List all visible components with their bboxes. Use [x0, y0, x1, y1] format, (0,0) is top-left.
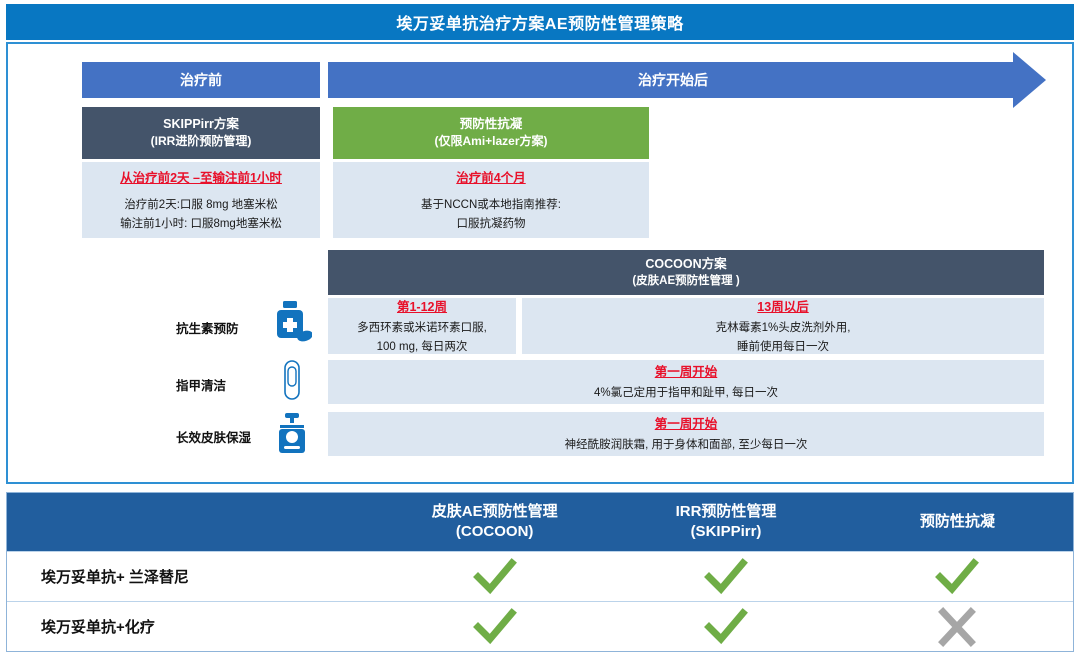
cross-icon — [934, 607, 980, 647]
nail-detail-1: 4%氯己定用于指甲和趾甲, 每日一次 — [594, 384, 778, 402]
column-skippirr-line2: (SKIPPirr) — [691, 522, 762, 542]
check-icon — [472, 557, 518, 597]
cocoon-subtitle: (皮肤AE预防性管理 ) — [632, 273, 739, 290]
table-cell-r1-c0 — [379, 602, 610, 651]
anticoagulation-detail-2: 口服抗凝药物 — [457, 215, 526, 233]
skippirr-detail-2: 输注前1小时: 口服8mg地塞米松 — [120, 215, 282, 233]
row-label-antibiotic: 抗生素预防 — [176, 318, 268, 337]
table-row: 埃万妥单抗+ 兰泽替尼 — [7, 551, 1073, 601]
check-icon — [934, 557, 980, 597]
antibiotic-right-detail-2: 睡前使用每日一次 — [737, 338, 829, 356]
lotion-bottle-icon — [272, 412, 312, 461]
right-arrow-icon — [1013, 52, 1046, 108]
table-column-skippirr: IRR预防性管理 (SKIPPirr) — [610, 493, 841, 551]
pill-bottle-icon — [272, 298, 312, 359]
antibiotic-left-detail-1: 多西环素或米诺环素口服, — [357, 319, 487, 337]
table-corner-cell — [7, 493, 379, 551]
table-cell-r0-c1 — [610, 552, 841, 601]
column-cocoon-line2: (COCOON) — [456, 522, 534, 542]
skippirr-subtitle: (IRR进阶预防管理) — [151, 133, 252, 150]
antibiotic-left-timing: 第1-12周 — [397, 296, 447, 315]
page-title-bar: 埃万妥单抗治疗方案AE预防性管理策略 — [6, 4, 1074, 40]
row-label-moisturizer: 长效皮肤保湿 — [176, 427, 268, 446]
skippirr-title: SKIPPirr方案 — [163, 115, 239, 133]
moisturizer-timing: 第一周开始 — [655, 413, 718, 432]
timeline-pre-label: 治疗前 — [180, 70, 222, 90]
check-icon — [703, 557, 749, 597]
moisturizer-cell: 第一周开始 神经酰胺润肤霜, 用于身体和面部, 至少每日一次 — [328, 412, 1044, 456]
table-row-label-chemotherapy: 埃万妥单抗+化疗 — [7, 602, 379, 651]
table-cell-r1-c1 — [610, 602, 841, 651]
moisturizer-detail-1: 神经酰胺润肤霜, 用于身体和面部, 至少每日一次 — [565, 436, 808, 454]
anticoagulation-title: 预防性抗凝 — [460, 115, 523, 133]
comparison-table: 皮肤AE预防性管理 (COCOON) IRR预防性管理 (SKIPPirr) 预… — [6, 492, 1074, 652]
anticoagulation-body: 治疗前4个月 基于NCCN或本地指南推荐: 口服抗凝药物 — [333, 162, 649, 238]
cocoon-header: COCOON方案 (皮肤AE预防性管理 ) — [328, 250, 1044, 295]
skippirr-timing: 从治疗前2天 –至输注前1小时 — [120, 167, 282, 186]
column-cocoon-line1: 皮肤AE预防性管理 — [432, 502, 558, 522]
nail-cell: 第一周开始 4%氯己定用于指甲和趾甲, 每日一次 — [328, 360, 1044, 404]
table-row: 埃万妥单抗+化疗 — [7, 601, 1073, 651]
skippirr-detail-1: 治疗前2天:口服 8mg 地塞米松 — [124, 196, 277, 214]
anticoagulation-subtitle: (仅限Ami+lazer方案) — [434, 133, 547, 150]
fingernail-icon — [272, 360, 312, 409]
table-row-label-lazertinib: 埃万妥单抗+ 兰泽替尼 — [7, 552, 379, 601]
column-anticoagulation-line1: 预防性抗凝 — [920, 512, 995, 532]
page-title: 埃万妥单抗治疗方案AE预防性管理策略 — [396, 10, 683, 34]
row-label-nail: 指甲清洁 — [176, 375, 268, 394]
table-cell-r0-c0 — [379, 552, 610, 601]
column-skippirr-line1: IRR预防性管理 — [676, 502, 777, 522]
skippirr-body: 从治疗前2天 –至输注前1小时 治疗前2天:口服 8mg 地塞米松 输注前1小时… — [82, 162, 320, 238]
table-cell-r1-c2 — [842, 602, 1073, 651]
cocoon-title: COCOON方案 — [645, 255, 726, 273]
antibiotic-cell-weeks-1-12: 第1-12周 多西环素或米诺环素口服, 100 mg, 每日两次 — [328, 298, 516, 354]
check-icon — [472, 607, 518, 647]
timeline-segment-post: 治疗开始后 — [328, 62, 1018, 98]
antibiotic-right-timing: 13周以后 — [757, 296, 808, 315]
antibiotic-cell-week-13-plus: 13周以后 克林霉素1%头皮洗剂外用, 睡前使用每日一次 — [522, 298, 1044, 354]
timeline-post-label: 治疗开始后 — [638, 70, 708, 90]
infographic-root: 埃万妥单抗治疗方案AE预防性管理策略 治疗前 治疗开始后 SKIPPirr方案 … — [0, 0, 1080, 656]
anticoagulation-timing: 治疗前4个月 — [456, 167, 525, 186]
nail-timing: 第一周开始 — [655, 361, 718, 380]
table-header-row: 皮肤AE预防性管理 (COCOON) IRR预防性管理 (SKIPPirr) 预… — [7, 493, 1073, 551]
table-column-cocoon: 皮肤AE预防性管理 (COCOON) — [379, 493, 610, 551]
anticoagulation-detail-1: 基于NCCN或本地指南推荐: — [421, 196, 561, 214]
skippirr-header: SKIPPirr方案 (IRR进阶预防管理) — [82, 107, 320, 159]
table-column-anticoagulation: 预防性抗凝 — [842, 493, 1073, 551]
check-icon — [703, 607, 749, 647]
anticoagulation-header: 预防性抗凝 (仅限Ami+lazer方案) — [333, 107, 649, 159]
table-cell-r0-c2 — [842, 552, 1073, 601]
antibiotic-left-detail-2: 100 mg, 每日两次 — [377, 338, 468, 356]
timeline-segment-pre: 治疗前 — [82, 62, 320, 98]
antibiotic-right-detail-1: 克林霉素1%头皮洗剂外用, — [716, 319, 851, 337]
